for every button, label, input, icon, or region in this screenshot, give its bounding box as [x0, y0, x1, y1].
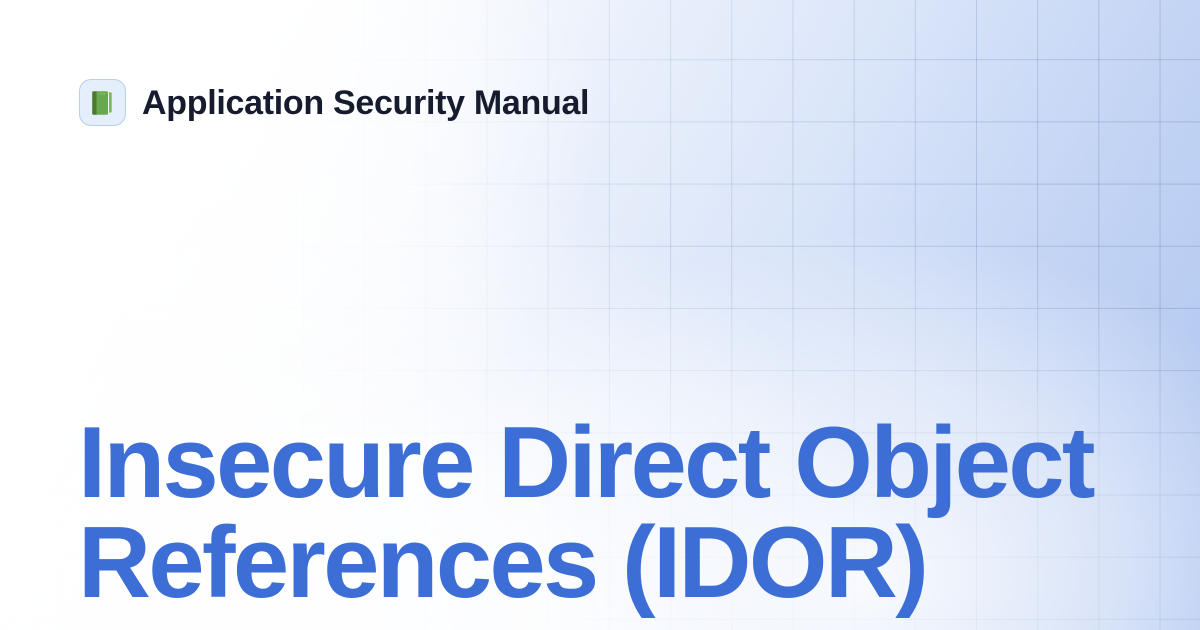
brand-icon-tile: [79, 79, 126, 126]
brand-title: Application Security Manual: [142, 86, 589, 120]
brand-row: Application Security Manual: [79, 79, 589, 126]
green-book-icon: [88, 88, 118, 118]
card-content: Application Security Manual Insecure Dir…: [0, 0, 1200, 630]
page-title: Insecure Direct Object References (IDOR): [78, 413, 1138, 613]
share-card: Application Security Manual Insecure Dir…: [0, 0, 1200, 630]
